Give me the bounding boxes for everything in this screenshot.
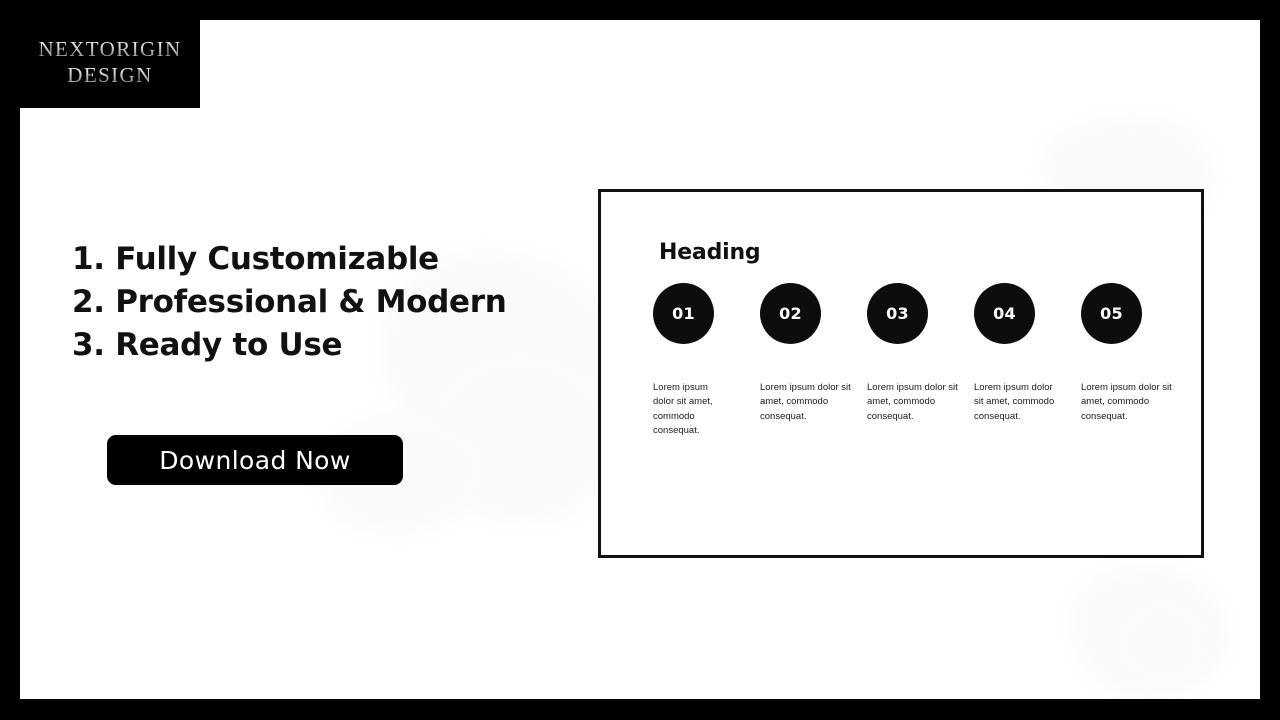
- slide-stage: 1. Fully Customizable 2. Professional & …: [0, 0, 1280, 720]
- step-description: Lorem ipsum dolor sit amet, commodo cons…: [1081, 381, 1188, 424]
- background-watermark-shape: [1070, 565, 1230, 695]
- step-description: Lorem ipsum dolor sit amet, commodo cons…: [653, 381, 760, 439]
- step-number: 01: [672, 304, 695, 323]
- step-item: 01 Lorem ipsum dolor sit amet, commodo c…: [653, 283, 760, 439]
- download-now-button[interactable]: Download Now: [107, 435, 403, 485]
- panel-heading: Heading: [659, 240, 760, 265]
- list-item: 2. Professional & Modern: [72, 281, 562, 324]
- brand-name-line-1: NEXTORIGIN: [38, 37, 181, 63]
- step-number: 04: [993, 304, 1016, 323]
- list-item: 3. Ready to Use: [72, 324, 562, 367]
- brand-name-line-2: DESIGN: [67, 63, 152, 89]
- step-number: 03: [886, 304, 909, 323]
- background-watermark-shape: [1115, 595, 1210, 690]
- step-number: 05: [1100, 304, 1123, 323]
- step-badge-circle: 02: [760, 283, 821, 344]
- step-item: 05 Lorem ipsum dolor sit amet, commodo c…: [1081, 283, 1188, 424]
- step-item: 02 Lorem ipsum dolor sit amet, commodo c…: [760, 283, 867, 424]
- feature-list: 1. Fully Customizable 2. Professional & …: [72, 238, 562, 366]
- slide-canvas: 1. Fully Customizable 2. Professional & …: [20, 20, 1260, 699]
- step-description: Lorem ipsum dolor sit amet, commodo cons…: [867, 381, 974, 424]
- steps-row: 01 Lorem ipsum dolor sit amet, commodo c…: [653, 283, 1163, 439]
- step-badge-circle: 03: [867, 283, 928, 344]
- step-badge-circle: 01: [653, 283, 714, 344]
- brand-logo-plate: NEXTORIGIN DESIGN: [20, 18, 200, 108]
- list-item: 1. Fully Customizable: [72, 238, 562, 281]
- step-number: 02: [779, 304, 802, 323]
- step-description: Lorem ipsum dolor sit amet, commodo cons…: [974, 381, 1081, 424]
- step-badge-circle: 04: [974, 283, 1035, 344]
- step-item: 04 Lorem ipsum dolor sit amet, commodo c…: [974, 283, 1081, 424]
- feature-list-block: 1. Fully Customizable 2. Professional & …: [72, 238, 562, 366]
- step-item: 03 Lorem ipsum dolor sit amet, commodo c…: [867, 283, 974, 424]
- preview-panel: Heading 01 Lorem ipsum dolor sit amet, c…: [598, 189, 1204, 558]
- step-badge-circle: 05: [1081, 283, 1142, 344]
- step-description: Lorem ipsum dolor sit amet, commodo cons…: [760, 381, 867, 424]
- background-watermark-shape: [425, 350, 615, 525]
